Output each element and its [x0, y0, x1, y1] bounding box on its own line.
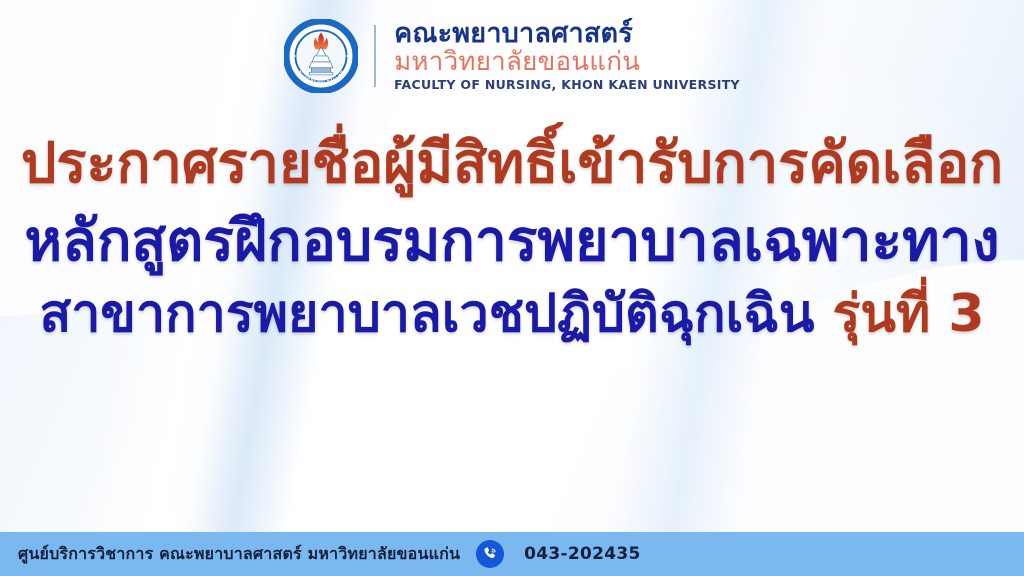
headline-line-1: ประกาศรายชื่อผู้มีสิทธิ์เข้ารับการคัดเลื…	[0, 135, 1024, 192]
brand-divider	[374, 25, 376, 87]
poster-header: คณะพยาบาลศาสตร์ มหาวิทยาลัยขอนแก่น	[0, 0, 1024, 112]
headline-line-2: หลักสูตรฝึกอบรมการพยาบาลเฉพาะทาง	[0, 212, 1024, 270]
brand-lockup: คณะพยาบาลศาสตร์ มหาวิทยาลัยขอนแก่น	[284, 19, 740, 93]
brand-text-block: คณะพยาบาลศาสตร์ มหาวิทยาลัยขอนแก่น FACUL…	[394, 20, 740, 92]
kku-nursing-crest-icon: คณะพยาบาลศาสตร์ มหาวิทยาลัยขอนแก่น	[284, 19, 358, 93]
faculty-name-th: คณะพยาบาลศาสตร์	[394, 20, 740, 47]
footer-content: ศูนย์บริการวิชาการ คณะพยาบาลศาสตร์ มหาวิ…	[0, 540, 641, 568]
phone-icon	[476, 540, 504, 568]
headline-block: ประกาศรายชื่อผู้มีสิทธิ์เข้ารับการคัดเลื…	[0, 135, 1024, 341]
announcement-poster: คณะพยาบาลศาสตร์ มหาวิทยาลัยขอนแก่น	[0, 0, 1024, 576]
footer-organization: ศูนย์บริการวิชาการ คณะพยาบาลศาสตร์ มหาวิ…	[18, 542, 460, 567]
headline-line-3-main: สาขาการพยาบาลเวชปฏิบัติฉุกเฉิน	[39, 284, 814, 344]
university-name-th: มหาวิทยาลัยขอนแก่น	[394, 49, 740, 75]
contact-footer-bar: ศูนย์บริการวิชาการ คณะพยาบาลศาสตร์ มหาวิ…	[0, 532, 1024, 576]
headline-line-3: สาขาการพยาบาลเวชปฏิบัติฉุกเฉิน รุ่นที่ 3	[0, 288, 1024, 341]
footer-phone-number: 043-202435	[524, 544, 641, 564]
faculty-name-en: FACULTY OF NURSING, KHON KAEN UNIVERSITY	[394, 79, 740, 92]
headline-line-3-accent: รุ่นที่ 3	[832, 284, 984, 344]
